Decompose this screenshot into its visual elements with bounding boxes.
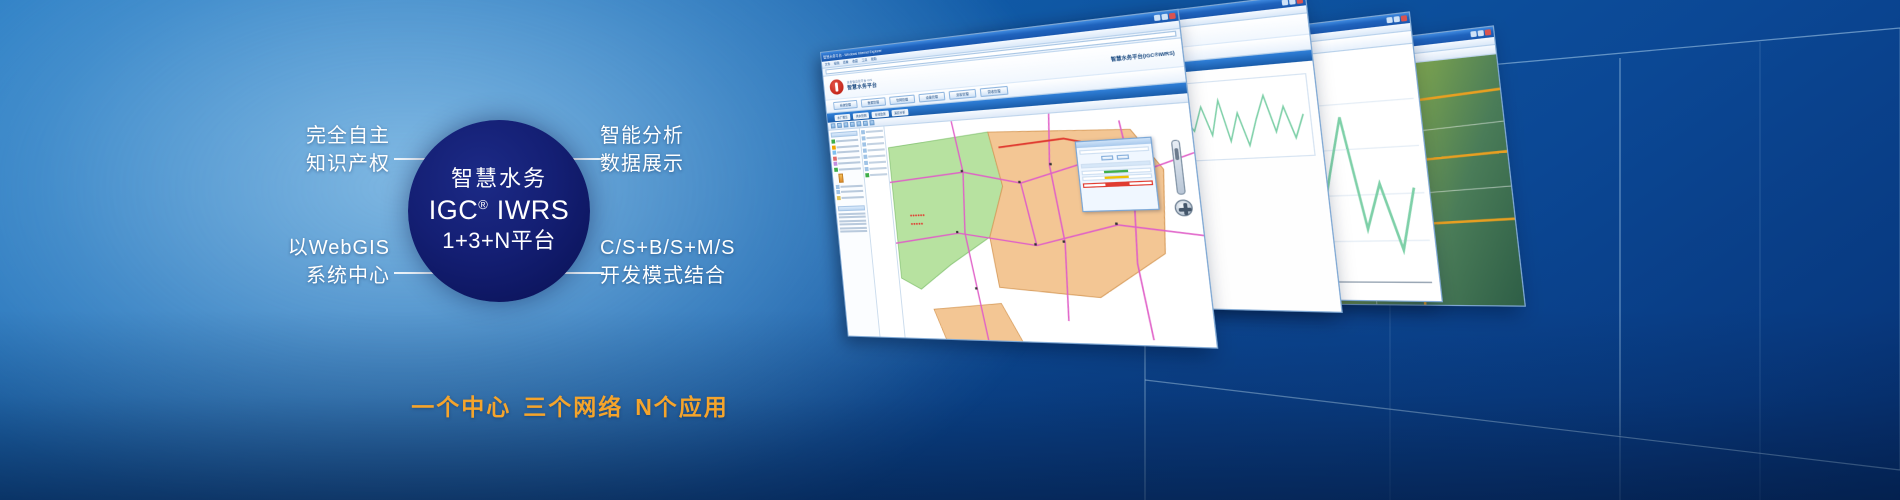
print-icon[interactable] xyxy=(869,120,874,126)
attribute-row[interactable] xyxy=(839,219,866,222)
close-icon[interactable] xyxy=(1485,29,1492,35)
nav-button[interactable]: 数据管理 xyxy=(861,97,886,107)
window-controls[interactable] xyxy=(1154,13,1176,21)
minimize-icon[interactable] xyxy=(1154,14,1161,21)
maximize-icon[interactable] xyxy=(1161,14,1168,21)
minimize-icon[interactable] xyxy=(1470,31,1477,37)
zoom-slider-knob[interactable] xyxy=(1174,148,1179,160)
attribute-row[interactable] xyxy=(838,212,865,215)
feature-line2: 系统中心 xyxy=(170,262,390,290)
feature-line1: 以WebGIS xyxy=(170,234,390,262)
svg-text:●●●●●: ●●●●● xyxy=(910,221,924,227)
attribute-row[interactable] xyxy=(839,223,866,226)
nav-button[interactable]: 营收管理 xyxy=(980,86,1009,97)
pan-tool-icon[interactable] xyxy=(831,123,836,128)
tagline-part3: N个应用 xyxy=(635,394,729,420)
core-en-iwrs: IWRS xyxy=(497,195,570,225)
brand-name: 智慧水务平台 xyxy=(847,81,877,91)
maximize-icon[interactable] xyxy=(1393,16,1400,22)
zoom-in-icon[interactable] xyxy=(837,123,842,128)
layer-tree-item[interactable] xyxy=(833,160,860,166)
platform-title: 智慧水务平台(IGC®IWRS) xyxy=(1110,49,1175,62)
nav-button[interactable]: 设备管理 xyxy=(918,92,945,103)
function-menu-item[interactable] xyxy=(865,166,887,171)
feature-label-top-left: 完全自主 知识产权 xyxy=(190,122,390,179)
layer-tree-item[interactable] xyxy=(834,166,861,172)
feature-line1: 完全自主 xyxy=(190,122,390,150)
feature-line2: 数据展示 xyxy=(600,150,820,178)
window-controls[interactable] xyxy=(1282,0,1304,6)
menu-edit[interactable]: 编辑 xyxy=(834,61,840,66)
menu-file[interactable]: 文件 xyxy=(825,62,831,67)
feature-label-top-right: 智能分析 数据展示 xyxy=(600,122,820,179)
subnav-item[interactable]: 在线监测 xyxy=(872,110,889,118)
measure-tool-icon[interactable] xyxy=(856,121,861,126)
function-menu-item[interactable] xyxy=(862,141,884,147)
subnav-item[interactable]: 水厂概览 xyxy=(834,113,850,120)
feature-line2: 开发模式结合 xyxy=(600,262,830,290)
legend-gradient-bar xyxy=(838,173,843,182)
app-window-gis-main[interactable]: 智慧水务平台 - Windows Internet Explorer 文件 编辑… xyxy=(820,9,1218,349)
attribute-row[interactable] xyxy=(840,230,867,233)
tagline: 一个中心三个网络N个应用 xyxy=(360,388,780,422)
function-menu-item[interactable] xyxy=(861,129,883,135)
nav-button[interactable]: 系统管理 xyxy=(833,100,858,110)
gis-workspace: ●●●●●● ●●●●● xyxy=(829,103,1218,349)
nav-button[interactable]: 管网管理 xyxy=(889,95,915,106)
maximize-icon[interactable] xyxy=(1289,0,1296,5)
maximize-icon[interactable] xyxy=(1477,30,1484,36)
core-en-title: IGC®IWRS xyxy=(429,196,570,226)
function-menu-item[interactable] xyxy=(863,147,885,153)
svg-text:●●●●●●: ●●●●●● xyxy=(909,212,925,218)
tagline-part1: 一个中心 xyxy=(411,394,511,420)
close-icon[interactable] xyxy=(1296,0,1303,4)
close-icon[interactable] xyxy=(1401,15,1408,21)
water-quality-popup[interactable] xyxy=(1075,137,1160,213)
menu-tools[interactable]: 工具 xyxy=(861,58,867,63)
nav-button[interactable]: 巡检管理 xyxy=(949,89,977,100)
attribute-row[interactable] xyxy=(839,216,866,219)
map-canvas[interactable]: ●●●●●● ●●●●● xyxy=(884,103,1217,349)
identify-tool-icon[interactable] xyxy=(863,121,868,126)
hero-banner: 完全自主 知识产权 以WebGIS 系统中心 智能分析 数据展示 C/S+B/S… xyxy=(0,0,1900,500)
layer-tree-item[interactable] xyxy=(837,194,864,199)
core-circle-badge: 智慧水务 IGC®IWRS 1+3+N平台 xyxy=(408,120,590,302)
close-icon[interactable] xyxy=(1169,13,1176,20)
tagline-part2: 三个网络 xyxy=(523,394,623,420)
feature-line1: C/S+B/S+M/S xyxy=(600,234,830,262)
menu-favorites[interactable]: 收藏 xyxy=(852,59,858,64)
function-menu-item[interactable] xyxy=(863,153,885,158)
function-menu-item[interactable] xyxy=(865,172,887,177)
water-drop-logo-icon xyxy=(829,79,844,95)
select-tool-icon[interactable] xyxy=(850,122,855,127)
minimize-icon[interactable] xyxy=(1282,0,1289,6)
menu-help[interactable]: 帮助 xyxy=(871,57,877,62)
subnav-item[interactable]: 漏损分析 xyxy=(891,108,908,116)
attribute-row[interactable] xyxy=(840,226,867,229)
menu-view[interactable]: 查看 xyxy=(843,60,849,65)
window-controls[interactable] xyxy=(1386,15,1407,23)
core-en-igc: IGC xyxy=(429,195,479,225)
function-menu-item[interactable] xyxy=(864,160,886,165)
feature-label-bottom-left: 以WebGIS 系统中心 xyxy=(170,234,390,291)
function-menu-item[interactable] xyxy=(862,135,884,141)
feature-label-bottom-right: C/S+B/S+M/S 开发模式结合 xyxy=(600,234,830,291)
attribute-table-header xyxy=(838,205,865,211)
layer-tree-item[interactable] xyxy=(836,189,863,194)
popup-table-row-alert[interactable] xyxy=(1083,180,1153,188)
concept-diagram: 完全自主 知识产权 以WebGIS 系统中心 智能分析 数据展示 C/S+B/S… xyxy=(0,0,820,500)
reset-button[interactable] xyxy=(1116,154,1129,159)
app-window-stack: 智慧水务平台 - Windows Internet Explorer 文件 编辑… xyxy=(780,0,1900,500)
layer-tree-header xyxy=(831,131,858,138)
query-button[interactable] xyxy=(1100,155,1112,160)
feature-line1: 智能分析 xyxy=(600,122,820,150)
subnav-item[interactable]: 供水管网 xyxy=(853,112,870,119)
feature-line2: 知识产权 xyxy=(190,150,390,178)
minimize-icon[interactable] xyxy=(1386,17,1393,23)
core-subtitle: 1+3+N平台 xyxy=(442,227,556,256)
popup-body xyxy=(1077,144,1157,192)
zoom-out-icon[interactable] xyxy=(843,122,848,127)
window-controls[interactable] xyxy=(1470,29,1491,37)
core-cn-title: 智慧水务 xyxy=(451,166,547,191)
registered-mark-icon: ® xyxy=(478,197,488,212)
layer-tree-item[interactable] xyxy=(836,183,863,188)
